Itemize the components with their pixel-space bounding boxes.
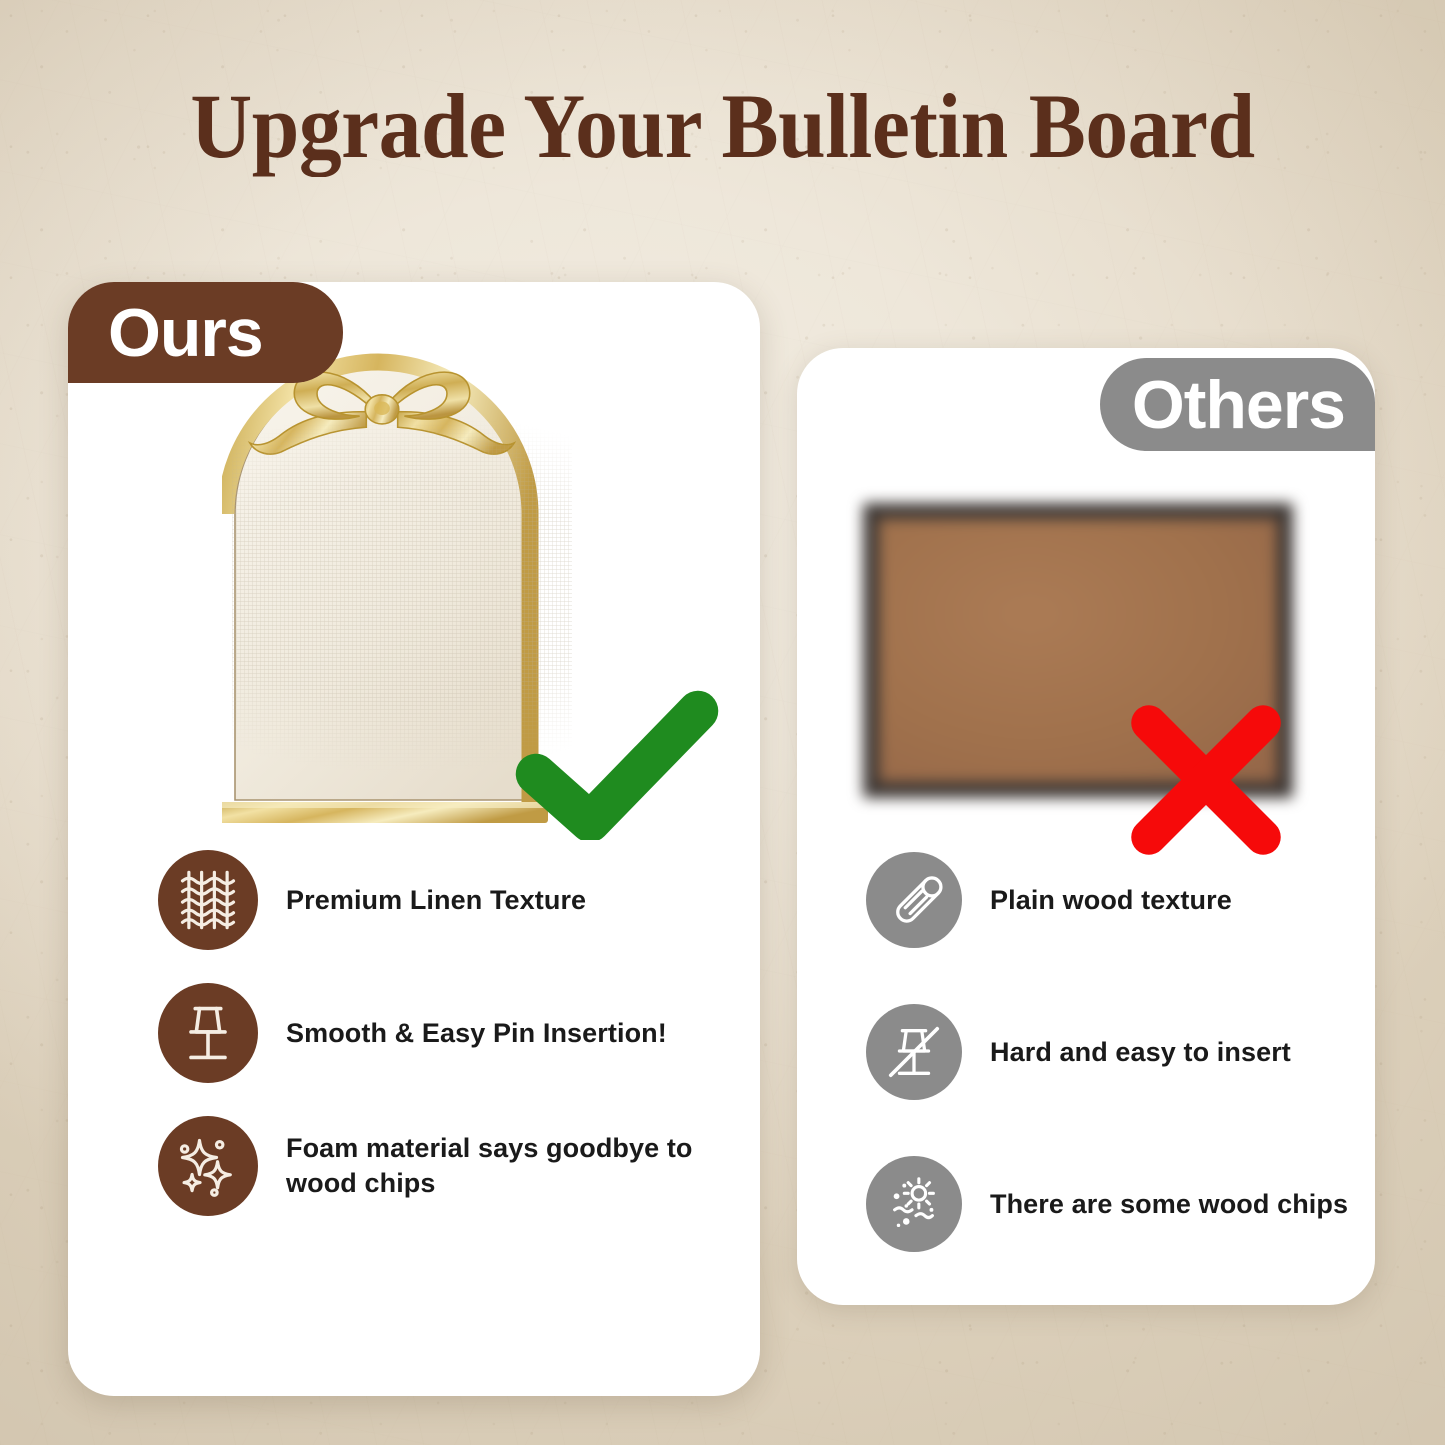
others-feature-item: Hard and easy to insert bbox=[866, 1004, 1366, 1100]
ours-badge: Ours bbox=[68, 282, 343, 383]
others-badge-label: Others bbox=[1132, 366, 1345, 444]
ours-feature-item: Smooth & Easy Pin Insertion! bbox=[158, 983, 718, 1083]
ours-feature-label: Premium Linen Texture bbox=[286, 883, 586, 918]
others-feature-item: Plain wood texture bbox=[866, 852, 1366, 948]
ours-feature-list: Premium Linen Texture Smooth & Easy Pin … bbox=[158, 850, 718, 1249]
ours-feature-item: Premium Linen Texture bbox=[158, 850, 718, 950]
infographic-canvas: Upgrade Your Bulletin Board Others bbox=[0, 0, 1445, 1445]
others-feature-label: There are some wood chips bbox=[990, 1187, 1348, 1222]
others-feature-label: Plain wood texture bbox=[990, 883, 1232, 918]
ours-feature-label: Smooth & Easy Pin Insertion! bbox=[286, 1016, 667, 1051]
ours-badge-label: Ours bbox=[108, 294, 263, 372]
push-pin-icon bbox=[158, 983, 258, 1083]
pin-blocked-icon bbox=[866, 1004, 962, 1100]
others-feature-label: Hard and easy to insert bbox=[990, 1035, 1291, 1070]
others-badge: Others bbox=[1100, 358, 1375, 451]
sparkles-icon bbox=[158, 1116, 258, 1216]
wood-log-icon bbox=[866, 852, 962, 948]
red-cross-icon bbox=[1122, 696, 1290, 864]
others-feature-list: Plain wood texture Hard and easy to inse… bbox=[866, 852, 1366, 1308]
green-check-icon bbox=[512, 690, 722, 840]
ours-feature-label: Foam material says goodbye to wood chips bbox=[286, 1131, 718, 1200]
others-feature-item: There are some wood chips bbox=[866, 1156, 1366, 1252]
page-title: Upgrade Your Bulletin Board bbox=[51, 78, 1395, 175]
linen-weave-icon bbox=[158, 850, 258, 950]
ours-feature-item: Foam material says goodbye to wood chips bbox=[158, 1116, 718, 1216]
wood-chips-icon bbox=[866, 1156, 962, 1252]
